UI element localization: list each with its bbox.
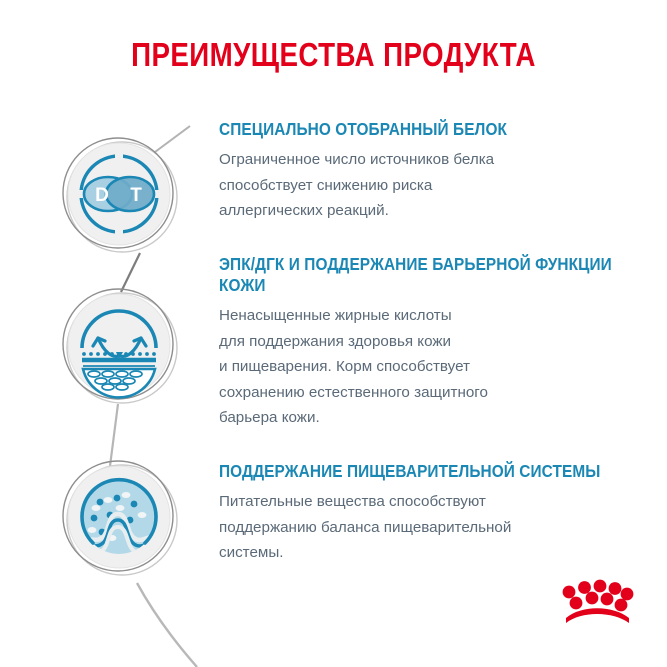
benefit-heading-1: СПЕЦИАЛЬНО ОТОБРАННЫЙ БЕЛОК bbox=[219, 119, 617, 140]
benefit-item-3: ПОДДЕРЖАНИЕ ПИЩЕВАРИТЕЛЬНОЙ СИСТЕМЫ Пита… bbox=[219, 461, 619, 566]
benefit-body-2-line-2: для поддержания здоровья кожи bbox=[219, 329, 619, 355]
benefit-body-2: Ненасыщенные жирные кислоты для поддержа… bbox=[219, 303, 619, 431]
benefit-heading-3: ПОДДЕРЖАНИЕ ПИЩЕВАРИТЕЛЬНОЙ СИСТЕМЫ bbox=[219, 461, 617, 482]
benefit-body-1: Ограниченное число источников белка спос… bbox=[219, 147, 619, 224]
benefit-body-3: Питательные вещества способствуют поддер… bbox=[219, 489, 619, 566]
benefit-item-1: СПЕЦИАЛЬНО ОТОБРАННЫЙ БЕЛОК Ограниченное… bbox=[219, 119, 619, 224]
digestive-support-icon bbox=[60, 458, 180, 578]
benefit-item-2: ЭПК/ДГК И ПОДДЕРЖАНИЕ БАРЬЕРНОЙ ФУНКЦИИ … bbox=[219, 254, 619, 431]
benefit-badge-2 bbox=[60, 286, 180, 406]
benefit-body-1-line-3: аллергических реакций. bbox=[219, 198, 619, 224]
benefit-body-3-line-3: системы. bbox=[219, 540, 619, 566]
connector-line-2-3 bbox=[110, 404, 118, 466]
venn-letter-d: D bbox=[95, 185, 109, 206]
crown-icon bbox=[559, 578, 635, 630]
benefit-badge-1: D T bbox=[60, 135, 180, 255]
benefit-body-2-line-1: Ненасыщенные жирные кислоты bbox=[219, 303, 619, 329]
skin-barrier-icon bbox=[60, 286, 180, 406]
benefit-heading-2-line-1: ЭПК/ДГК И ПОДДЕРЖАНИЕ БАРЬЕРНОЙ bbox=[219, 254, 531, 274]
product-benefits-page: { "page": { "title": "ПРЕИМУЩЕСТВА ПРОДУ… bbox=[0, 0, 667, 667]
benefit-body-2-line-3: и пищеварения. Корм способствует bbox=[219, 354, 619, 380]
benefit-body-3-line-2: поддержанию баланса пищеварительной bbox=[219, 515, 619, 541]
venn-letter-t: T bbox=[130, 185, 142, 206]
benefit-body-1-line-2: способствует снижению риска bbox=[219, 173, 619, 199]
benefit-heading-2: ЭПК/ДГК И ПОДДЕРЖАНИЕ БАРЬЕРНОЙ ФУНКЦИИ … bbox=[219, 254, 617, 296]
connector-line-bottom bbox=[137, 583, 197, 667]
selected-protein-icon: D T bbox=[60, 135, 180, 255]
royal-canin-crown-logo bbox=[559, 578, 635, 630]
page-title: ПРЕИМУЩЕСТВА ПРОДУКТА bbox=[53, 36, 613, 74]
benefit-body-3-line-1: Питательные вещества способствуют bbox=[219, 489, 619, 515]
benefit-body-2-line-4: сохранению естественного защитного bbox=[219, 380, 619, 406]
benefit-badge-3 bbox=[60, 458, 180, 578]
benefit-body-1-line-1: Ограниченное число источников белка bbox=[219, 147, 619, 173]
benefit-body-2-line-5: барьера кожи. bbox=[219, 405, 619, 431]
